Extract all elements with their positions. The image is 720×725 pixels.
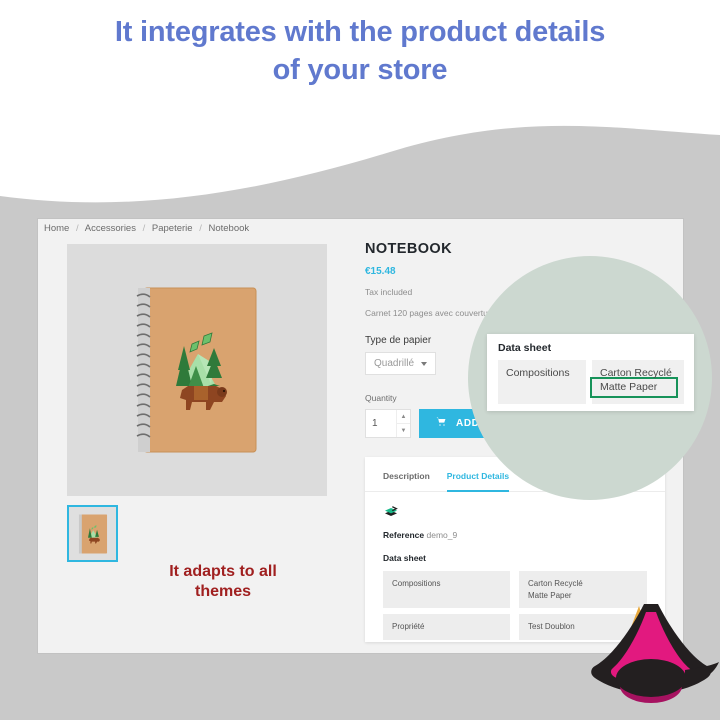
reference-icon	[383, 507, 399, 524]
reference-value: demo_9	[426, 530, 457, 540]
data-sheet-value: Carton Recyclé Matte Paper	[519, 571, 647, 608]
attribute-select-paper-type[interactable]: Quadrillé	[365, 352, 436, 375]
reference-label: Reference	[383, 530, 424, 540]
breadcrumb-separator: /	[143, 223, 146, 234]
product-thumbnail-row	[67, 505, 327, 562]
headline-line-2: of your store	[0, 52, 720, 90]
breadcrumb-item-papeterie[interactable]: Papeterie	[152, 223, 193, 234]
magnified-value-line-1: Carton Recyclé	[600, 367, 672, 379]
data-sheet-key: Propriété	[383, 614, 510, 640]
chevron-down-icon[interactable]: ▼	[397, 424, 410, 437]
product-reference: Reference demo_9	[383, 530, 647, 540]
magnified-data-sheet-key: Compositions	[498, 360, 586, 404]
product-title: NOTEBOOK	[365, 241, 665, 257]
product-gallery	[67, 244, 327, 562]
breadcrumb-item-notebook[interactable]: Notebook	[208, 223, 249, 234]
breadcrumb: Home / Accessories / Papeterie / Noteboo…	[44, 223, 249, 234]
breadcrumb-separator: /	[199, 223, 202, 234]
breadcrumb-separator: /	[76, 223, 79, 234]
annotation-line-2: themes	[195, 583, 251, 600]
data-sheet-key: Compositions	[383, 571, 510, 608]
magnified-data-sheet-card: Data sheet Compositions Carton Recyclé M…	[487, 334, 694, 411]
breadcrumb-item-accessories[interactable]: Accessories	[85, 223, 136, 234]
quantity-stepper[interactable]: 1 ▲ ▼	[365, 409, 411, 438]
magnified-table-row: Compositions Carton Recyclé Matte Paper	[487, 354, 694, 404]
product-main-image[interactable]	[67, 244, 327, 496]
table-row: Compositions Carton Recyclé Matte Paper	[383, 571, 647, 608]
chevron-down-icon	[421, 362, 427, 366]
headline-line-1: It integrates with the product details	[115, 16, 605, 48]
magnified-data-sheet-title: Data sheet	[487, 334, 694, 354]
data-sheet-value-line-2: Matte Paper	[528, 591, 572, 600]
tab-description[interactable]: Description	[383, 471, 430, 492]
page-headline: It integrates with the product details o…	[0, 14, 720, 89]
chevron-up-icon[interactable]: ▲	[397, 410, 410, 424]
quantity-input[interactable]: 1	[366, 418, 396, 429]
prestashop-mascot-logo	[589, 604, 720, 720]
data-sheet-value-line-1: Test Doublon	[528, 622, 575, 631]
quantity-spinner[interactable]: ▲ ▼	[396, 410, 410, 437]
magnified-data-sheet-value: Carton Recyclé Matte Paper	[592, 360, 684, 404]
data-sheet-value-line-1: Carton Recyclé	[528, 579, 583, 588]
annotation-adapts-to-themes: It adapts to all themes	[123, 562, 323, 601]
tab-product-details[interactable]: Product Details	[447, 471, 509, 492]
product-thumbnail-1[interactable]	[67, 505, 118, 562]
breadcrumb-item-home[interactable]: Home	[44, 223, 69, 234]
annotation-line-1: It adapts to all	[169, 563, 277, 580]
cart-icon	[435, 416, 448, 431]
attribute-selected-value: Quadrillé	[374, 358, 414, 369]
magnified-value-line-2: Matte Paper	[600, 381, 657, 393]
data-sheet-title: Data sheet	[383, 553, 647, 563]
